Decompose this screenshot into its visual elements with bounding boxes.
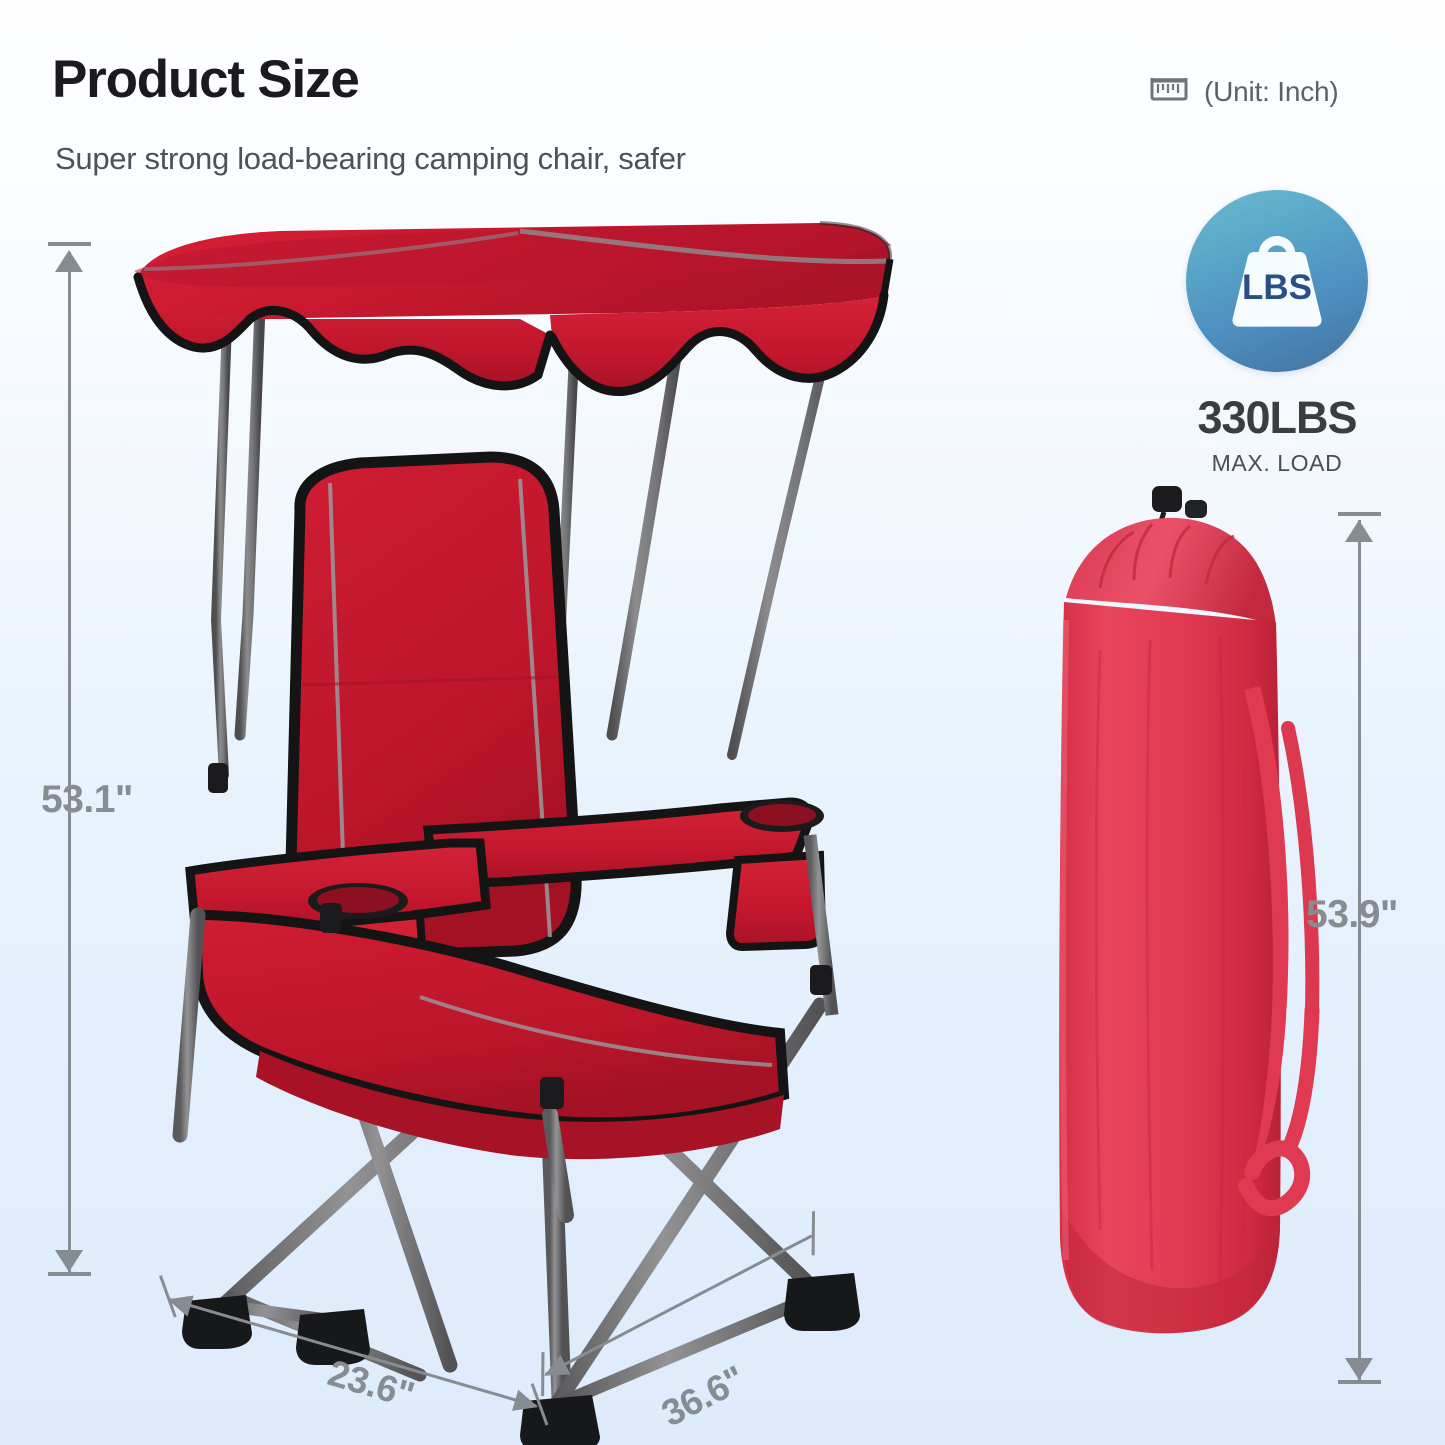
max-load-badge: LBS 330LBS MAX. LOAD <box>1157 190 1397 477</box>
dimension-line-height-chair <box>68 252 71 1274</box>
dimension-line-height-bag <box>1358 520 1361 1382</box>
dimension-cap-bottom-right <box>1338 1380 1381 1384</box>
canopy <box>134 223 892 392</box>
unit-note: (Unit: Inch) <box>1148 68 1339 115</box>
dimension-cap-top-left <box>48 242 91 246</box>
carry-bag-image <box>1030 470 1330 1400</box>
page-title: Product Size <box>52 53 359 106</box>
dimension-arrow-down-left <box>55 1250 83 1272</box>
weight-icon: LBS <box>1213 222 1341 340</box>
badge-icon-label: LBS <box>1242 268 1312 307</box>
ruler-icon <box>1148 68 1190 115</box>
dimension-arrow-up-left <box>55 250 83 272</box>
unit-label: (Unit: Inch) <box>1204 76 1339 108</box>
dimension-arrow-up-right <box>1345 520 1373 542</box>
dimension-label-height-chair: 53.1" <box>41 778 133 822</box>
page-subtitle: Super strong load-bearing camping chair,… <box>55 143 686 174</box>
chair-fabric <box>190 457 832 1159</box>
dimension-cap-top-right <box>1338 512 1381 516</box>
badge-circle: LBS <box>1186 190 1368 372</box>
infographic-canvas: Product Size Super strong load-bearing c… <box>0 0 1445 1445</box>
dimension-label-height-bag: 53.9" <box>1306 893 1398 937</box>
max-load-value: 330LBS <box>1157 392 1397 444</box>
dimension-arrow-down-right <box>1345 1358 1373 1380</box>
dimension-cap-bottom-left <box>48 1272 91 1276</box>
